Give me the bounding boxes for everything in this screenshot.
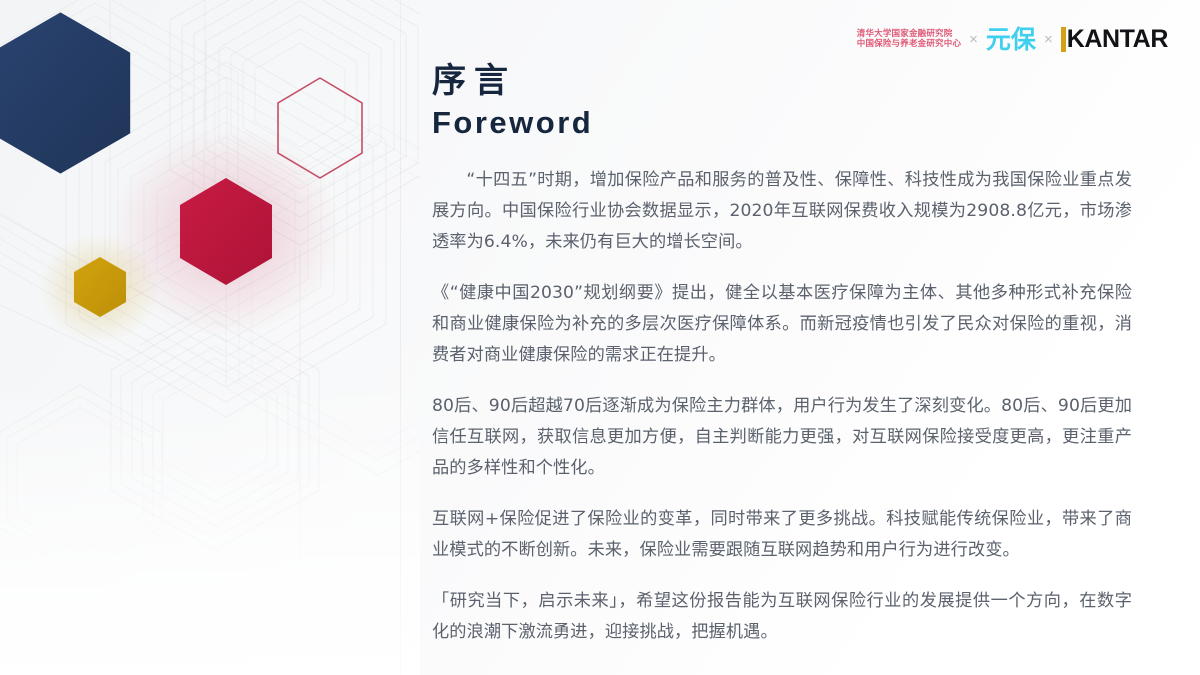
crimson-hexagon <box>180 178 272 285</box>
logo-separator-1-icon: × <box>968 32 979 47</box>
tsinghua-logo-line1: 清华大学国家金融研究院 <box>857 29 961 39</box>
crimson-outline-hexagon <box>278 78 362 178</box>
logo-separator-2-icon: × <box>1043 32 1054 47</box>
page-title-cn: 序言 <box>432 62 593 100</box>
foreword-paragraph-1: “十四五”时期，增加保险产品和服务的普及性、保障性、科技性成为我国保险业重点发展… <box>432 165 1132 258</box>
foreword-paragraph-2: 《“健康中国2030”规划纲要》提出，健全以基本医疗保障为主体、其他多种形式补充… <box>432 278 1132 371</box>
tsinghua-logo: 清华大学国家金融研究院 中国保险与养老金研究中心 <box>857 29 961 49</box>
artwork-fade-overlay <box>0 375 420 675</box>
foreword-paragraph-5: 「研究当下，启示未来」，希望这份报告能为互联网保险行业的发展提供一个方向，在数字… <box>432 586 1132 648</box>
hexagon-line-field <box>0 0 420 575</box>
decorative-hexagon-artwork <box>0 0 420 675</box>
foreword-body: “十四五”时期，增加保险产品和服务的普及性、保障性、科技性成为我国保险业重点发展… <box>432 165 1132 648</box>
page-title: 序言 Foreword <box>432 62 593 141</box>
kantar-logo-label: KANTAR <box>1067 27 1168 52</box>
page-title-en: Foreword <box>432 104 593 141</box>
kantar-logo: KANTAR <box>1061 27 1168 52</box>
column-divider <box>400 0 401 675</box>
gold-hexagon <box>74 257 126 317</box>
tsinghua-logo-line2: 中国保险与养老金研究中心 <box>857 39 961 49</box>
navy-hexagon <box>0 12 130 173</box>
yuanbao-logo: 元保 <box>986 27 1036 52</box>
kantar-accent-bar-icon <box>1061 27 1066 52</box>
foreword-paragraph-3: 80后、90后超越70后逐渐成为保险主力群体，用户行为发生了深刻变化。80后、9… <box>432 391 1132 484</box>
foreword-paragraph-4: 互联网+保险促进了保险业的变革，同时带来了更多挑战。科技赋能传统保险业，带来了商… <box>432 504 1132 566</box>
partner-logo-bar: 清华大学国家金融研究院 中国保险与养老金研究中心 × 元保 × KANTAR <box>857 20 1168 58</box>
slide-root: 清华大学国家金融研究院 中国保险与养老金研究中心 × 元保 × KANTAR 序… <box>0 0 1200 675</box>
